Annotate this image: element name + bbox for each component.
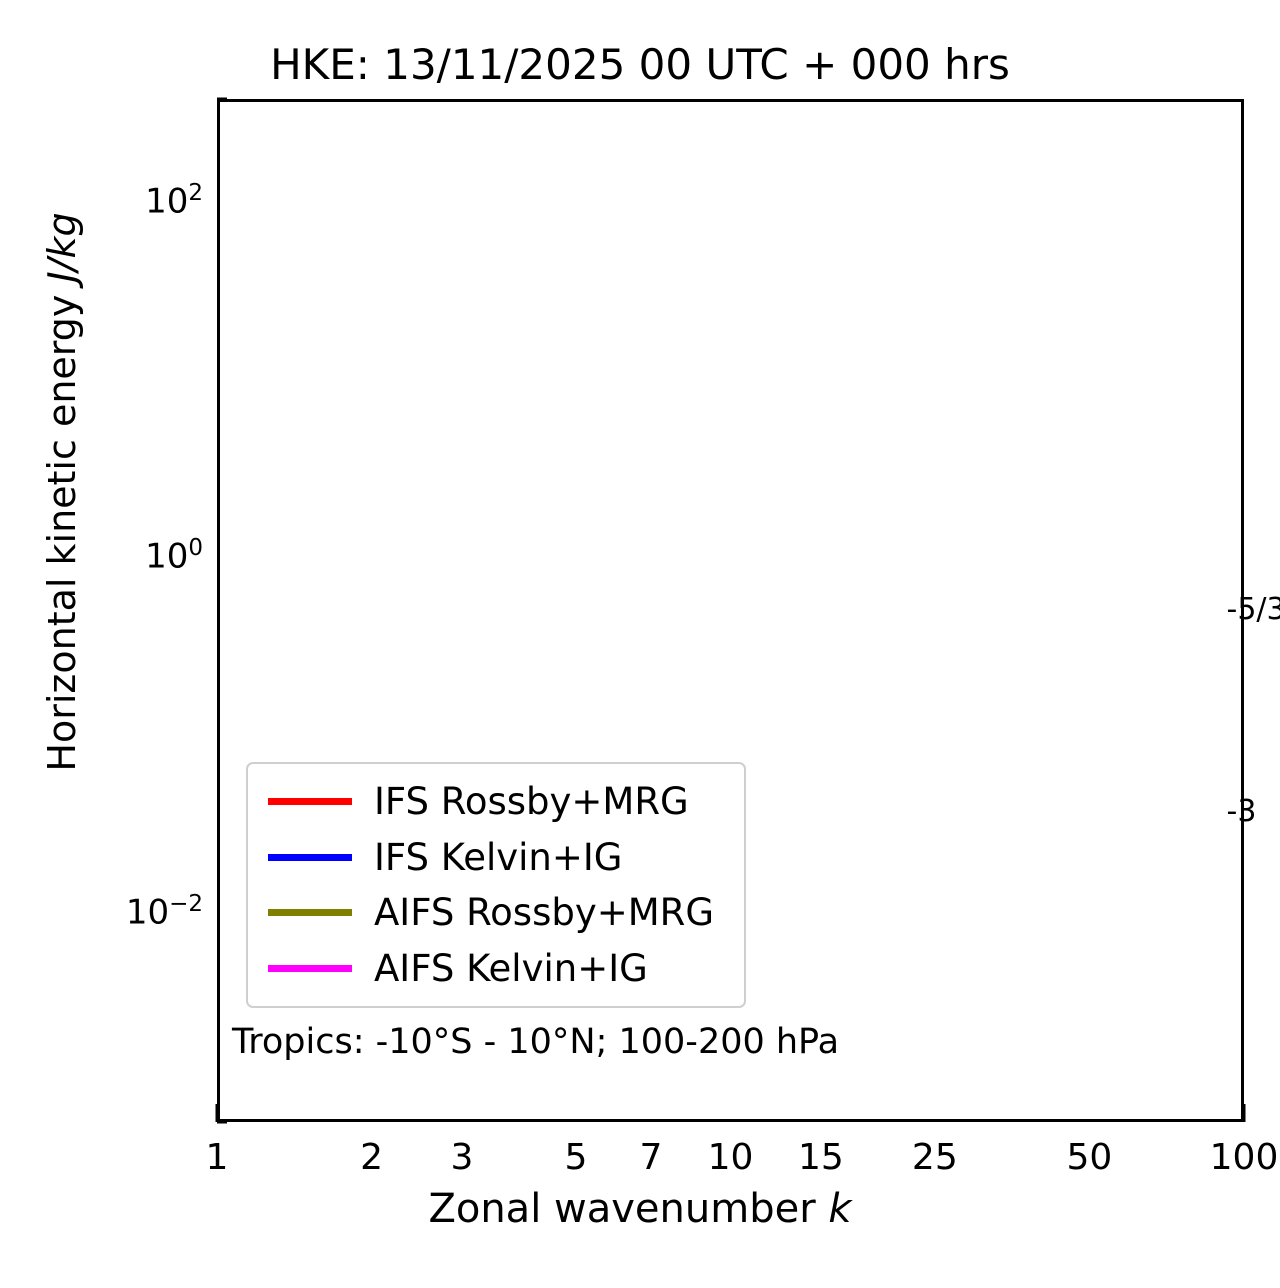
legend-item[interactable]: IFS Kelvin+IG <box>262 831 730 883</box>
legend-item[interactable]: AIFS Kelvin+IG <box>262 942 730 994</box>
legend-swatch-ifs-kelvin-ig <box>268 854 352 861</box>
legend-item[interactable]: IFS Rossby+MRG <box>262 776 730 828</box>
y-tick-label: 102 <box>145 182 203 218</box>
legend-label-aifs-kelvin-ig: AIFS Kelvin+IG <box>374 950 648 987</box>
region-annotation: Tropics: -10°S - 10°N; 100-200 hPa <box>232 1022 839 1062</box>
x-tick-label: 50 <box>1029 1140 1149 1176</box>
slope-label-3: -3 <box>1227 794 1257 829</box>
legend-swatch-aifs-kelvin-ig <box>268 965 352 972</box>
x-tick-label: 25 <box>875 1140 995 1176</box>
legend-swatch-aifs-rossby-mrg <box>268 909 352 916</box>
x-tick-label: 100 <box>1184 1140 1280 1176</box>
legend[interactable]: IFS Rossby+MRG IFS Kelvin+IG AIFS Rossby… <box>246 762 746 1008</box>
legend-label-aifs-rossby-mrg: AIFS Rossby+MRG <box>374 894 714 931</box>
legend-label-ifs-kelvin-ig: IFS Kelvin+IG <box>374 839 622 876</box>
x-tick-label: 3 <box>402 1140 522 1176</box>
x-tick-label: 15 <box>761 1140 881 1176</box>
legend-swatch-ifs-rossby-mrg <box>268 798 352 805</box>
x-tick-label: 1 <box>157 1140 277 1176</box>
slope-label-53: -5/3 <box>1227 592 1280 627</box>
y-tick-label: 10−2 <box>126 893 203 929</box>
legend-label-ifs-rossby-mrg: IFS Rossby+MRG <box>374 783 689 820</box>
figure-canvas: HKE: 13/11/2025 00 UTC + 000 hrs Horizon… <box>0 0 1280 1288</box>
legend-item[interactable]: AIFS Rossby+MRG <box>262 887 730 939</box>
y-tick-label: 100 <box>145 537 203 573</box>
